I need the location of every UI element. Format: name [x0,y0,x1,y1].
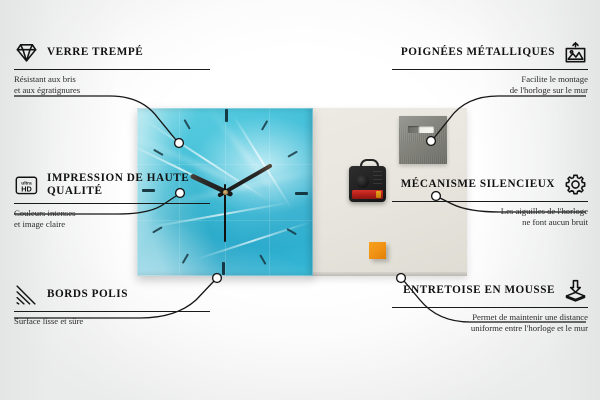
silent-quartz-mechanism [349,166,386,202]
hanger-keyhole-slot [408,126,434,133]
mechanism-vents [373,171,382,185]
feature-description: Permet de maintenir une distance uniform… [392,312,588,334]
feature-description: Couleurs intenses et image claire [14,208,210,230]
feature-title: POIGNÉES MÉTALLIQUES [401,46,555,59]
polished-edges-icon [14,282,39,307]
infographic-canvas: VERRE TREMPÉ Résistant aux bris et aux é… [0,0,600,400]
feature-title: MÉCANISME SILENCIEUX [401,178,555,191]
mechanism-hanging-loop [360,159,379,171]
feature-entretoise-en-mousse: ENTRETOISE EN MOUSSE Permet de maintenir… [392,278,588,334]
feature-divider [392,69,588,70]
feature-title: BORDS POLIS [47,288,128,301]
foam-spacer-icon [563,278,588,303]
feature-divider [14,311,210,312]
feature-impression-haute-qualite: ultra HD IMPRESSION DE HAUTE QUALITÉ Cou… [14,172,210,230]
mechanism-shaft [356,175,369,188]
feature-divider [392,307,588,308]
feature-divider [14,69,210,70]
feature-title: ENTRETOISE EN MOUSSE [403,284,555,297]
feature-poignees-metalliques: POIGNÉES MÉTALLIQUES Facilite le montage… [392,40,588,96]
ultra-hd-icon: ultra HD [14,173,39,198]
feature-divider [14,203,210,204]
feature-divider [392,201,588,202]
svg-text:HD: HD [21,184,32,193]
feature-description: Surface lisse et sûre [14,316,210,327]
clock-center-cap [223,190,228,195]
feature-bords-polis: BORDS POLIS Surface lisse et sûre [14,282,210,327]
feature-description: Les aiguilles de l'horloge ne font aucun… [392,206,588,228]
feature-description: Résistant aux bris et aux égratignures [14,74,210,96]
foam-spacer [369,242,386,259]
feature-description: Facilite le montage de l'horloge sur le … [392,74,588,96]
picture-hanger-icon [563,40,588,65]
feature-title: VERRE TREMPÉ [47,46,143,59]
battery [352,190,383,199]
feature-verre-trempe: VERRE TREMPÉ Résistant aux bris et aux é… [14,40,210,96]
diamond-icon [14,40,39,65]
feature-mecanisme-silencieux: MÉCANISME SILENCIEUX Les aiguilles de l'… [392,172,588,228]
gear-icon [563,172,588,197]
metal-hanger-plate [399,116,447,164]
feature-title: IMPRESSION DE HAUTE QUALITÉ [47,172,210,199]
